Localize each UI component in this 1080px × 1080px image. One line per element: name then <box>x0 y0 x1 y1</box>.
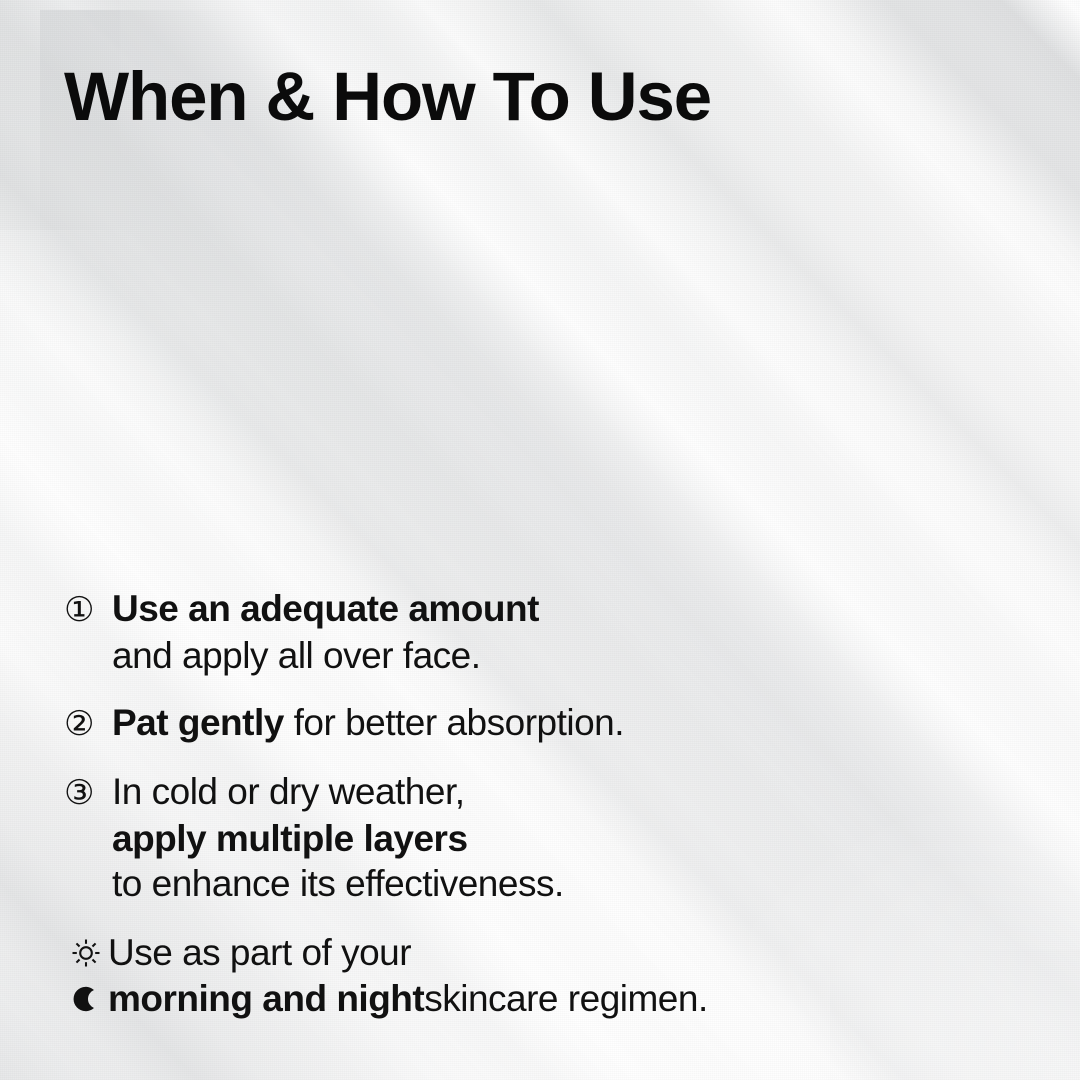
steps-list: ①Use an adequate amount and apply all ov… <box>64 586 964 928</box>
moon-icon <box>64 979 108 1019</box>
step-item-2: ②Pat gently for better absorption. <box>64 700 964 747</box>
content-area: When & How To Use ①Use an adequate amoun… <box>0 0 1080 1080</box>
step-1-line-1: ①Use an adequate amount <box>64 586 964 633</box>
circled-two-icon: ② <box>64 702 112 747</box>
step-1-line-2: and apply all over face. <box>64 633 964 678</box>
routine-line-night: morning and night skincare regimen. <box>64 976 708 1022</box>
step-3-bold-text: apply multiple layers <box>112 818 468 859</box>
step-item-1: ①Use an adequate amount and apply all ov… <box>64 586 964 678</box>
page-title: When & How To Use <box>64 62 711 131</box>
step-2-line-1: ②Pat gently for better absorption. <box>64 700 964 747</box>
routine-day-text: Use as part of your <box>108 930 411 976</box>
product-usage-card: When & How To Use ①Use an adequate amoun… <box>0 0 1080 1080</box>
step-3-regular-text-1: In cold or dry weather, <box>112 771 465 812</box>
step-2-regular-text: for better absorption. <box>284 702 624 743</box>
step-2-bold-text: Pat gently <box>112 702 284 743</box>
routine-night-regular-text: skincare regimen. <box>424 976 708 1022</box>
routine-line-day: Use as part of your <box>64 930 708 976</box>
step-3-regular-text-2: to enhance its effectiveness. <box>112 863 564 904</box>
sun-icon <box>64 933 108 973</box>
step-3-line-2: apply multiple layers <box>64 816 964 861</box>
step-1-regular-text: and apply all over face. <box>112 635 481 676</box>
step-3-line-1: ③In cold or dry weather, <box>64 769 964 816</box>
routine-block: Use as part of your morning and night sk… <box>64 930 708 1022</box>
step-item-3: ③In cold or dry weather, apply multiple … <box>64 769 964 906</box>
circled-three-icon: ③ <box>64 771 112 816</box>
routine-night-bold-text: morning and night <box>108 976 424 1022</box>
circled-one-icon: ① <box>64 588 112 633</box>
step-1-bold-text: Use an adequate amount <box>112 588 539 629</box>
step-3-line-3: to enhance its effectiveness. <box>64 861 964 906</box>
